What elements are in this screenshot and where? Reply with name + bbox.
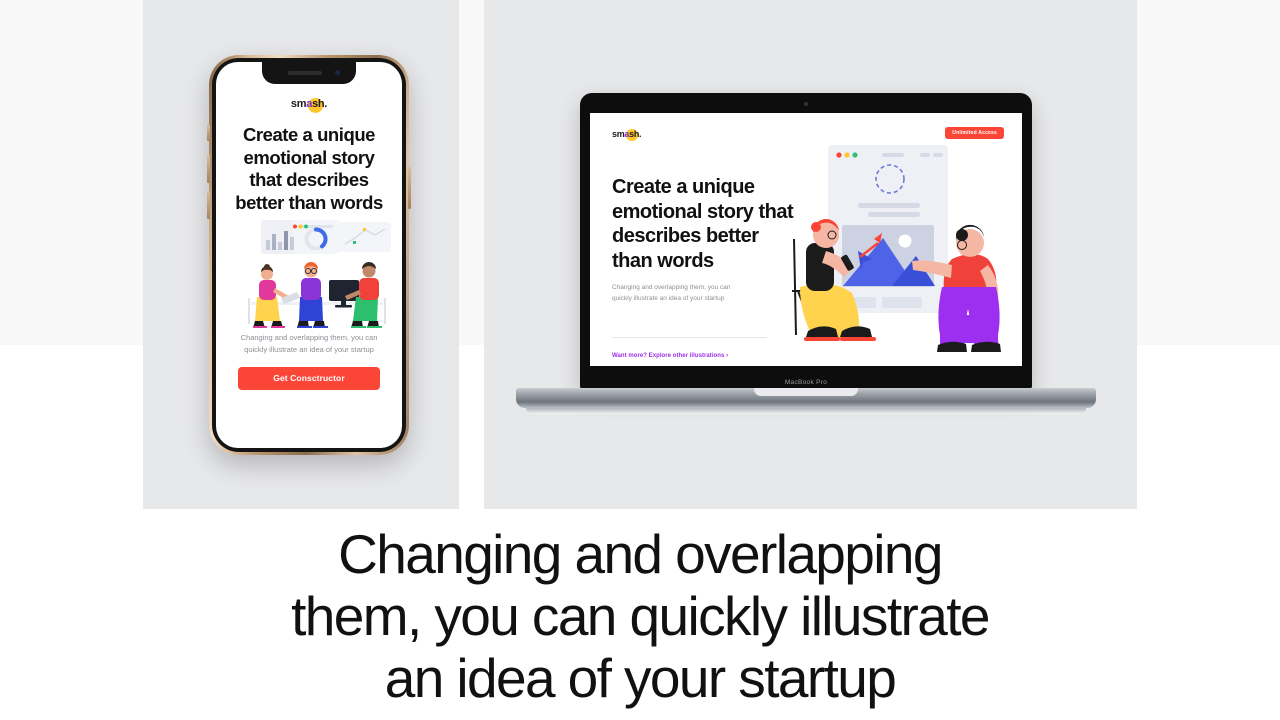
phone-front-camera-icon [335,70,340,75]
caption-line-1: Changing and overlapping [0,523,1280,585]
phone-subtext: Changing and overlapping them, you can q… [239,332,379,356]
logo-text: smash. [612,129,641,139]
laptop-subtext: Changing and overlapping them, you can q… [612,283,737,304]
logo-text: smash. [291,98,327,110]
laptop-page-content: smash. Unlimited Access Create a unique … [590,113,1022,366]
laptop-mockup: smash. Unlimited Access Create a unique … [516,93,1096,413]
get-constructor-button[interactable]: Get Consctructor [238,367,380,390]
phone-notch [262,62,356,84]
laptop-camera-icon [804,102,808,106]
phone-screen: smash. Create a unique emotional story t… [216,62,402,448]
laptop-heading: Create a unique emotional story that des… [612,175,802,273]
phone-illustration [233,220,399,332]
laptop-base-notch [754,388,858,396]
phone-heading: Create a unique emotional story that des… [233,124,385,214]
link-label: Want more? Explore other illustrations [612,353,724,359]
page-caption: Changing and overlapping them, you can q… [0,523,1280,709]
laptop-device-label: MacBook Pro [580,379,1032,386]
brand-logo-laptop: smash. [612,129,641,139]
phone-earpiece-speaker [288,71,322,75]
logo-text-prefix: sm [291,98,306,110]
phone-volume-down-button [207,191,210,219]
caption-line-3: an idea of your startup [0,647,1280,709]
logo-text-prefix: sm [612,129,624,139]
logo-text-suffix: sh. [629,129,641,139]
caption-line-2: them, you can quickly illustrate [0,585,1280,647]
logo-text-suffix: sh. [312,98,327,110]
phone-mockup: smash. Create a unique emotional story t… [209,55,409,455]
laptop-lid: smash. Unlimited Access Create a unique … [580,93,1032,390]
phone-power-button [408,167,411,209]
phone-page-content: smash. Create a unique emotional story t… [216,62,402,448]
phone-silent-switch [207,125,210,141]
chevron-right-icon: › [726,353,728,359]
laptop-base-foot [526,408,1086,414]
brand-logo-phone: smash. [291,98,327,110]
phone-volume-up-button [207,155,210,183]
laptop-base [516,388,1096,408]
unlimited-access-badge[interactable]: Unlimited Access [945,127,1004,139]
explore-illustrations-link[interactable]: Want more? Explore other illustrations › [612,353,728,359]
laptop-screen: smash. Unlimited Access Create a unique … [590,113,1022,366]
divider [612,337,767,338]
laptop-illustration [786,139,1022,366]
